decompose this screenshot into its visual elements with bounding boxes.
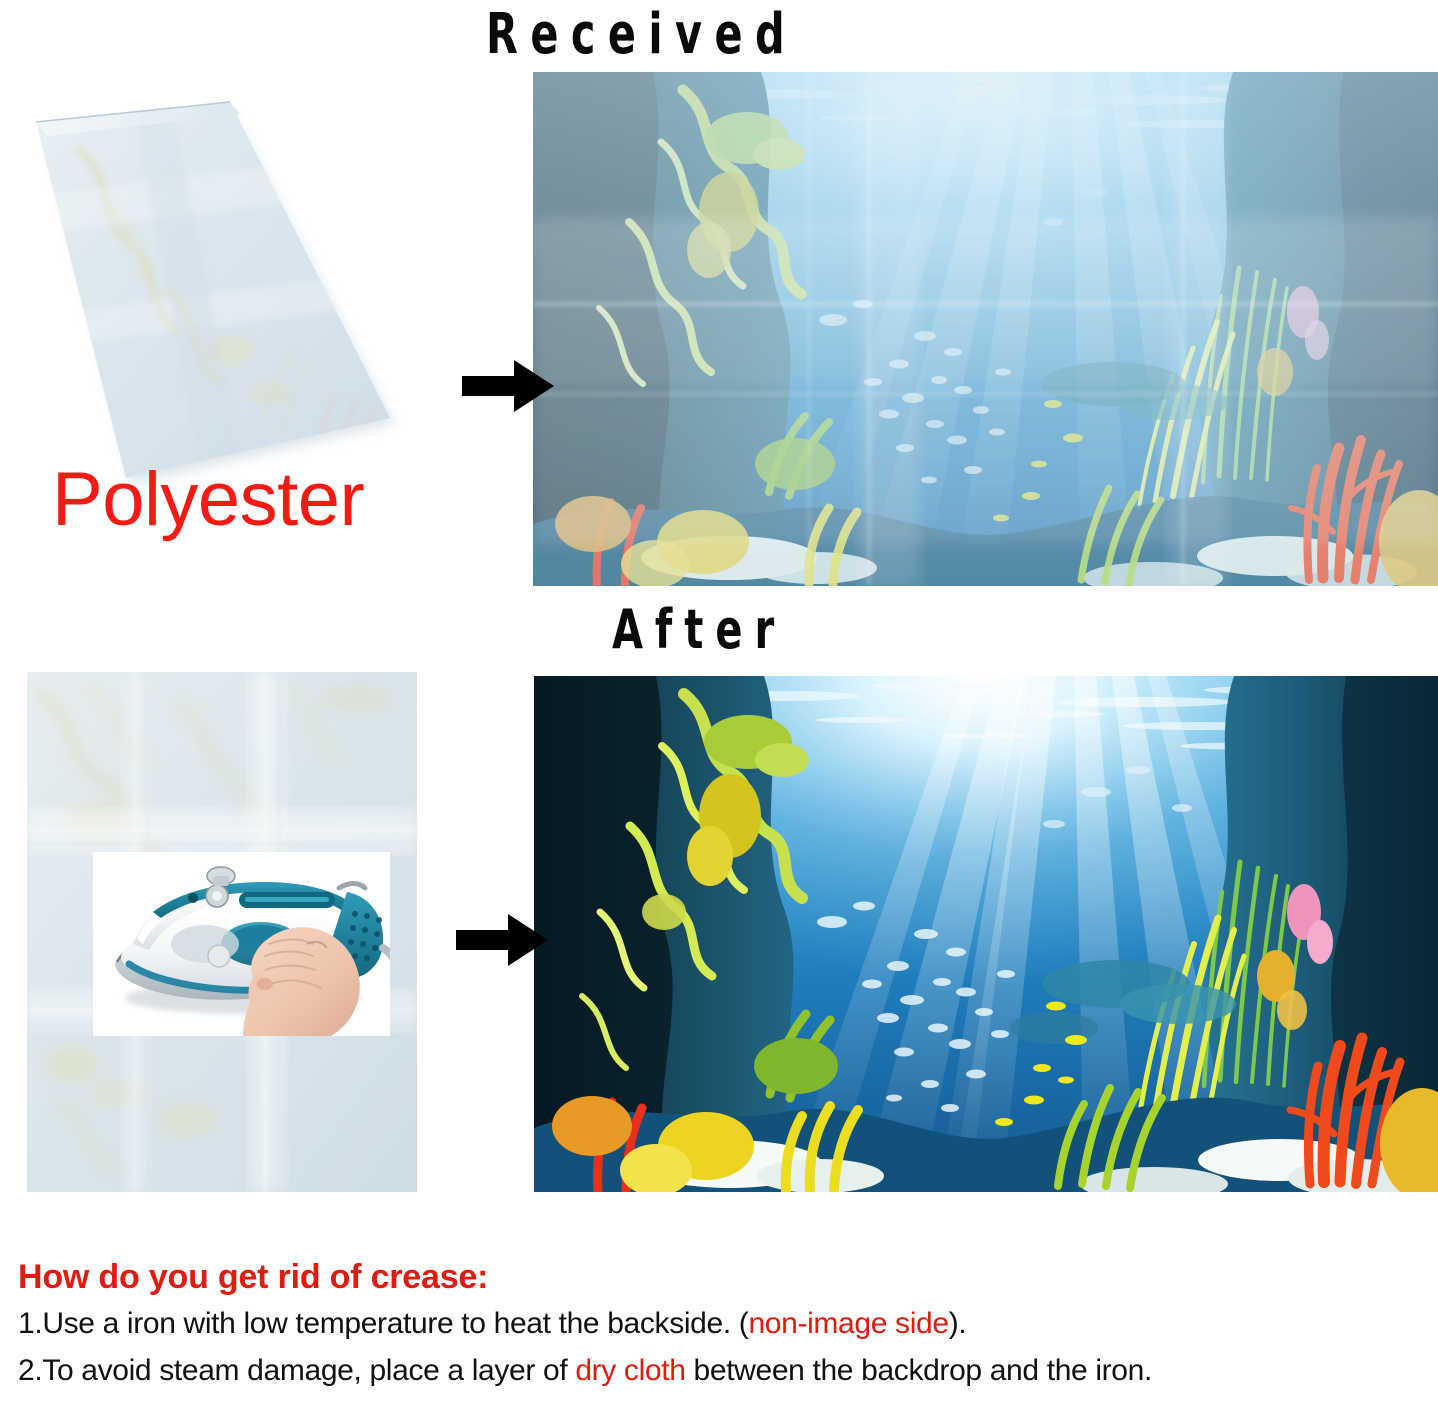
care-step-1-highlight: non-image side	[748, 1307, 948, 1340]
folded-fabric-svg	[18, 88, 418, 488]
crease-lines	[533, 72, 1438, 586]
care-step-1-seg-1: Use a iron with low temperature to heat …	[42, 1307, 748, 1340]
received-heading: Received	[486, 2, 797, 67]
underwater-reef-creased-svg	[533, 72, 1438, 586]
after-backdrop-image	[534, 676, 1438, 1192]
right-arrow-icon	[462, 358, 554, 414]
care-step-2: 2.To avoid steam damage, place a layer o…	[18, 1351, 1428, 1390]
polyester-label: Polyester	[52, 462, 364, 538]
care-step-1-number: 1.	[18, 1307, 42, 1340]
care-step-2-seg-3: between the backdrop and the iron.	[686, 1354, 1152, 1387]
care-step-1: 1.Use a iron with low temperature to hea…	[18, 1304, 1428, 1343]
iron-illustration-svg	[93, 852, 390, 1036]
care-step-1-seg-3: ).	[949, 1307, 967, 1340]
underwater-reef-smooth-svg	[534, 676, 1438, 1192]
received-backdrop-image	[533, 72, 1438, 586]
steam-iron-with-hand	[93, 852, 390, 1036]
right-arrow-icon	[456, 912, 548, 968]
care-step-2-highlight: dry cloth	[575, 1354, 685, 1387]
after-heading: After	[612, 598, 786, 661]
care-instructions-block: How do you get rid of crease: 1.Use a ir…	[18, 1258, 1428, 1390]
folded-polyester-sample	[18, 88, 418, 488]
care-step-2-number: 2.	[18, 1354, 42, 1387]
care-title: How do you get rid of crease:	[18, 1258, 1428, 1296]
care-step-2-seg-1: To avoid steam damage, place a layer of	[42, 1354, 575, 1387]
